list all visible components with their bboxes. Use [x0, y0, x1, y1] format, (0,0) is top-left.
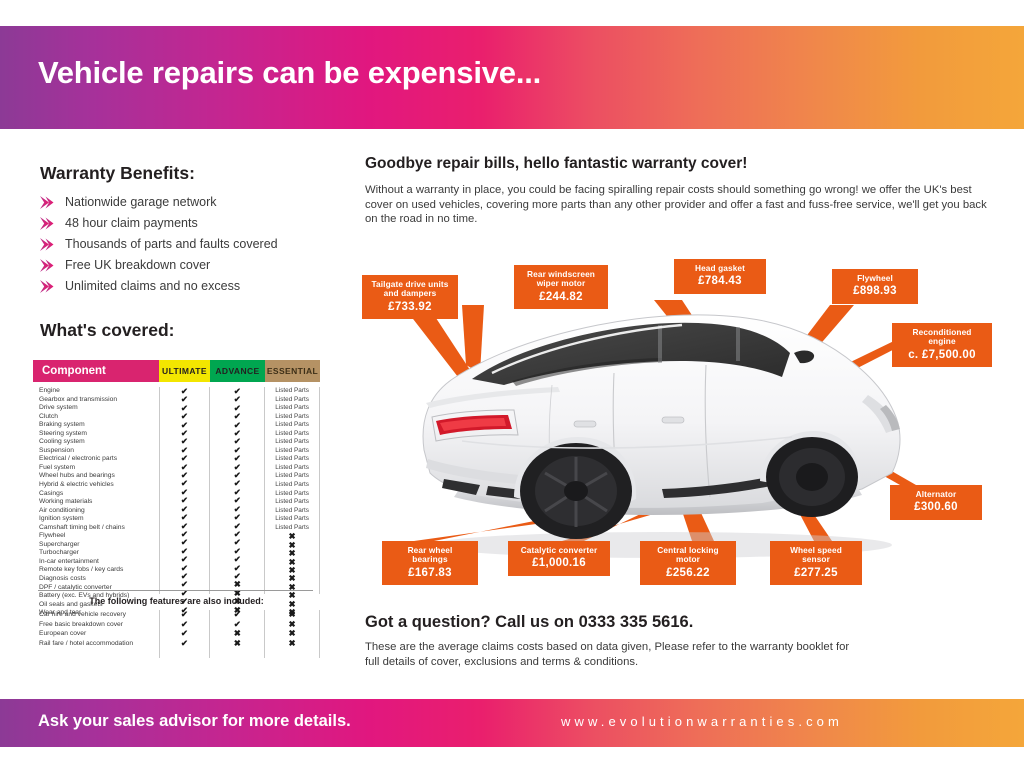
component-name-cell: Turbocharger — [39, 549, 159, 558]
listed-parts-cell: Listed Parts — [265, 455, 319, 464]
check-cell: ✔ — [160, 639, 210, 649]
listed-parts-cell: Listed Parts — [265, 498, 319, 507]
component-name-cell: Steering system — [39, 430, 159, 439]
component-name-cell: Braking system — [39, 421, 159, 430]
component-name-cell: Car hire and vehicle recovery — [39, 610, 159, 620]
extras-right-rule — [319, 610, 320, 658]
chevron-right-icon — [40, 280, 55, 293]
listed-parts-cell: Listed Parts — [265, 472, 319, 481]
extras-heading: The following features are also included… — [33, 596, 320, 606]
coverage-essential-column: Listed PartsListed PartsListed PartsList… — [264, 387, 319, 594]
column-header-essential: ESSENTIAL — [265, 360, 320, 382]
benefit-item: Free UK breakdown cover — [40, 255, 340, 276]
component-name-cell: Clutch — [39, 413, 159, 422]
component-name-cell: Casings — [39, 490, 159, 499]
coverage-divider — [38, 590, 313, 591]
callout-flywheel[interactable]: Flywheel £898.93 — [832, 269, 918, 304]
extras-component-column: Car hire and vehicle recoveryFree basic … — [33, 610, 159, 658]
extras-ultimate-column: ✔✔✔✔ — [159, 610, 210, 658]
component-name-cell: Remote key fobs / key cards — [39, 566, 159, 575]
callout-head-gasket[interactable]: Head gasket £784.43 — [674, 259, 766, 294]
callout-wheel-speed-sensor[interactable]: Wheel speed sensor £277.25 — [770, 541, 862, 585]
footer-website-url: www.evolutionwarranties.com — [561, 714, 843, 729]
listed-parts-cell: Listed Parts — [265, 447, 319, 456]
poster-page: Vehicle repairs can be expensive... Warr… — [0, 0, 1024, 768]
component-name-cell: Hybrid & electric vehicles — [39, 481, 159, 490]
benefit-item: Unlimited claims and no excess — [40, 276, 340, 297]
cross-cell: ✖ — [210, 639, 264, 649]
extras-table: Car hire and vehicle recoveryFree basic … — [33, 610, 320, 658]
coverage-table-body: EngineGearbox and transmissionDrive syst… — [33, 382, 320, 594]
component-name-cell: Air conditioning — [39, 507, 159, 516]
listed-parts-cell: Listed Parts — [265, 413, 319, 422]
chevron-right-icon — [40, 196, 55, 209]
component-name-cell: Gearbox and transmission — [39, 396, 159, 405]
benefit-label: Nationwide garage network — [65, 195, 216, 209]
extras-essential-column: ✖✖✖✖ — [264, 610, 319, 658]
callout-catalytic-converter[interactable]: Catalytic converter £1,000.16 — [508, 541, 610, 576]
listed-parts-cell: Listed Parts — [265, 438, 319, 447]
extras-advance-column: ✔✔✖✖ — [209, 610, 264, 658]
component-name-cell: Working materials — [39, 498, 159, 507]
main-heading: Goodbye repair bills, hello fantastic wa… — [365, 155, 747, 173]
table-right-rule — [319, 387, 320, 594]
page-title: Vehicle repairs can be expensive... — [38, 55, 541, 91]
benefit-label: Unlimited claims and no excess — [65, 279, 240, 293]
column-header-ultimate: ULTIMATE — [159, 360, 210, 382]
coverage-table-header: Component ULTIMATE ADVANCE ESSENTIAL — [33, 360, 320, 382]
callout-reconditioned-engine[interactable]: Reconditioned engine c. £7,500.00 — [892, 323, 992, 367]
benefit-label: 48 hour claim payments — [65, 216, 198, 230]
listed-parts-cell: Listed Parts — [265, 490, 319, 499]
callout-rear-windscreen-wiper-motor[interactable]: Rear windscreen wiper motor £244.82 — [514, 265, 608, 309]
footer-cta-text: Ask your sales advisor for more details. — [38, 712, 351, 731]
listed-parts-cell: Listed Parts — [265, 515, 319, 524]
listed-parts-cell: Listed Parts — [265, 507, 319, 516]
coverage-component-column: EngineGearbox and transmissionDrive syst… — [33, 387, 159, 594]
main-paragraph: Without a warranty in place, you could b… — [365, 183, 995, 227]
component-name-cell: In-car entertainment — [39, 558, 159, 567]
question-subtext: These are the average claims costs based… — [365, 640, 865, 669]
benefit-label: Thousands of parts and faults covered — [65, 237, 278, 251]
chevron-right-icon — [40, 238, 55, 251]
callout-tailgate-drive-units[interactable]: Tailgate drive units and dampers £733.92 — [362, 275, 458, 319]
coverage-table: Component ULTIMATE ADVANCE ESSENTIAL Eng… — [33, 360, 320, 594]
component-name-cell: Drive system — [39, 404, 159, 413]
benefit-item: Nationwide garage network — [40, 192, 340, 213]
component-name-cell: Free basic breakdown cover — [39, 620, 159, 630]
coverage-ultimate-column: ✔✔✔✔✔✔✔✔✔✔✔✔✔✔✔✔✔✔✔✔✔✔✔✔✔✔✔ — [159, 387, 210, 594]
benefit-item: 48 hour claim payments — [40, 213, 340, 234]
warranty-benefits-heading: Warranty Benefits: — [40, 163, 195, 184]
chevron-right-icon — [40, 259, 55, 272]
component-name-cell: Suspension — [39, 447, 159, 456]
listed-parts-cell: Listed Parts — [265, 387, 319, 396]
car-diagram: Tailgate drive units and dampers £733.92… — [362, 245, 1002, 600]
listed-parts-cell: Listed Parts — [265, 404, 319, 413]
callout-alternator[interactable]: Alternator £300.60 — [890, 485, 982, 520]
listed-parts-cell: Listed Parts — [265, 430, 319, 439]
coverage-advance-column: ✔✔✔✔✔✔✔✔✔✔✔✔✔✔✔✔✔✔✔✔✔✔✔✖✖✖✖ — [209, 387, 264, 594]
column-header-component: Component — [33, 360, 159, 382]
listed-parts-cell: Listed Parts — [265, 481, 319, 490]
component-name-cell: Cooling system — [39, 438, 159, 447]
callout-rear-wheel-bearings[interactable]: Rear wheel bearings £167.83 — [382, 541, 478, 585]
cross-cell: ✖ — [265, 639, 319, 649]
component-name-cell: Rail fare / hotel accommodation — [39, 639, 159, 649]
component-name-cell: Wheel hubs and bearings — [39, 472, 159, 481]
component-name-cell: Camshaft timing belt / chains — [39, 524, 159, 533]
listed-parts-cell: Listed Parts — [265, 396, 319, 405]
warranty-benefits-list: Nationwide garage network48 hour claim p… — [40, 192, 340, 297]
component-name-cell: Diagnosis costs — [39, 575, 159, 584]
component-name-cell: Electrical / electronic parts — [39, 455, 159, 464]
column-header-advance: ADVANCE — [210, 360, 265, 382]
chevron-right-icon — [40, 217, 55, 230]
benefit-item: Thousands of parts and faults covered — [40, 234, 340, 255]
benefit-label: Free UK breakdown cover — [65, 258, 210, 272]
listed-parts-cell: Listed Parts — [265, 464, 319, 473]
component-name-cell: Flywheel — [39, 532, 159, 541]
component-name-cell: Engine — [39, 387, 159, 396]
listed-parts-cell: Listed Parts — [265, 421, 319, 430]
whats-covered-heading: What's covered: — [40, 320, 174, 341]
component-name-cell: Ignition system — [39, 515, 159, 524]
component-name-cell: European cover — [39, 629, 159, 639]
callout-central-locking-motor[interactable]: Central locking motor £256.22 — [640, 541, 736, 585]
component-name-cell: Fuel system — [39, 464, 159, 473]
component-name-cell: Supercharger — [39, 541, 159, 550]
question-heading: Got a question? Call us on 0333 335 5616… — [365, 613, 693, 632]
